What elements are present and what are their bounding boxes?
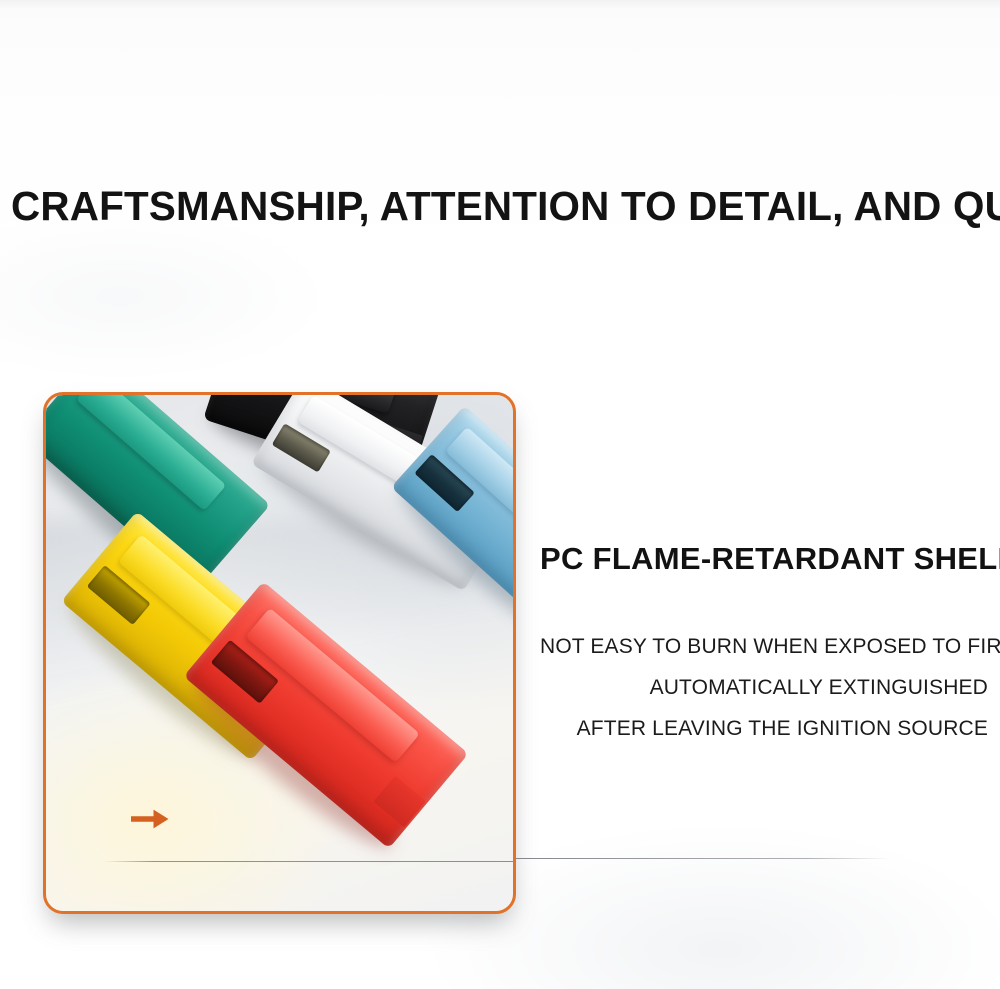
- pointer-arrow-icon: [131, 808, 169, 830]
- product-photo: [46, 395, 513, 911]
- feature-copy: PC FLAME-RETARDANT SHELL NOT EASY TO BUR…: [540, 540, 988, 749]
- horizontal-divider: [516, 858, 890, 859]
- feature-bullet: AFTER LEAVING THE IGNITION SOURCE: [540, 708, 988, 749]
- feature-bullet-list: NOT EASY TO BURN WHEN EXPOSED TO FIRE AU…: [540, 626, 988, 749]
- page-headline: CRAFTSMANSHIP, ATTENTION TO DETAIL, AND …: [11, 183, 957, 229]
- feature-bullet: NOT EASY TO BURN WHEN EXPOSED TO FIRE: [540, 626, 988, 667]
- product-photo-frame: [43, 392, 516, 914]
- feature-title: PC FLAME-RETARDANT SHELL: [540, 540, 988, 578]
- product-feature-page: CRAFTSMANSHIP, ATTENTION TO DETAIL, AND …: [0, 0, 1000, 989]
- feature-bullet: AUTOMATICALLY EXTINGUISHED: [540, 667, 988, 708]
- photo-hairline: [104, 861, 513, 862]
